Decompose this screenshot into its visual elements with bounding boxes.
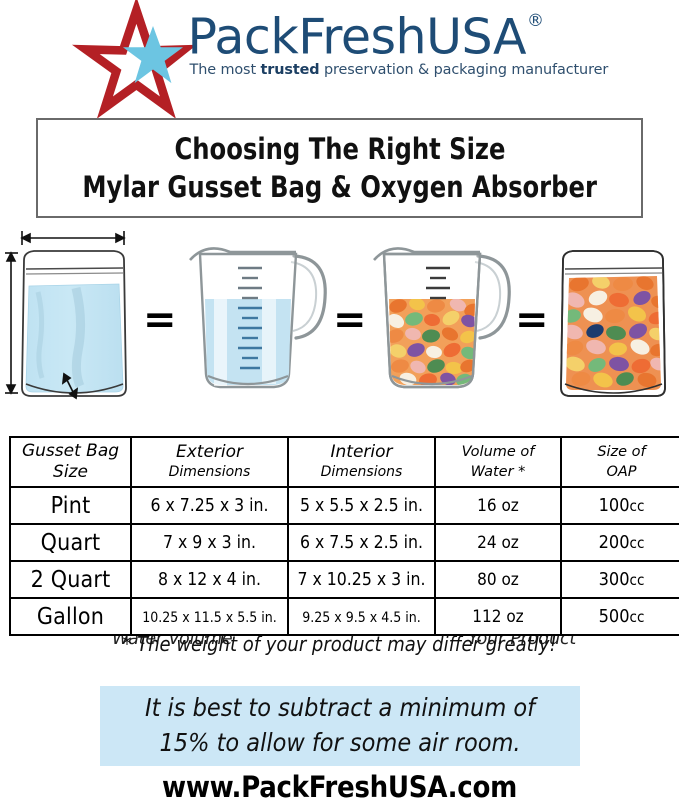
cell-oap: 200cc bbox=[561, 524, 679, 561]
cell-size: 2 Quart bbox=[10, 561, 131, 598]
cell-size: Quart bbox=[10, 524, 131, 561]
highlight-callout: It is best to subtract a minimum of 15% … bbox=[100, 686, 580, 766]
cell-oap-number: 200 bbox=[599, 532, 630, 553]
cell-size-text: Pint bbox=[51, 493, 91, 519]
cell-interior: 9.25 x 9.5 x 4.5 in. bbox=[288, 598, 435, 635]
title-line-2: Mylar Gusset Bag & Oxygen Absorber bbox=[82, 168, 597, 206]
product-filled-bag-illustration bbox=[543, 226, 679, 404]
cell-size-text: Quart bbox=[41, 530, 101, 556]
cell-oap-text: 200cc bbox=[599, 532, 645, 553]
measuring-cup-water-illustration bbox=[178, 226, 338, 404]
cell-interior-text: 9.25 x 9.5 x 4.5 in. bbox=[302, 610, 420, 626]
table-row: 2 Quart 8 x 12 x 4 in. 7 x 10.25 x 3 in.… bbox=[10, 561, 679, 598]
cell-water: 16 oz bbox=[435, 487, 561, 524]
cell-exterior: 6 x 7.25 x 3 in. bbox=[131, 487, 288, 524]
width-dimension-arrow bbox=[22, 231, 124, 245]
brand-name: PackFreshUSA® bbox=[188, 2, 608, 62]
title-box: Choosing The Right Size Mylar Gusset Bag… bbox=[36, 118, 643, 218]
cell-oap-unit: cc bbox=[630, 608, 645, 626]
cell-water: 112 oz bbox=[435, 598, 561, 635]
header-line-1: Interior bbox=[289, 442, 434, 463]
cell-exterior-text: 6 x 7.25 x 3 in. bbox=[150, 496, 268, 516]
cell-exterior-text: 7 x 9 x 3 in. bbox=[163, 533, 256, 553]
website-url[interactable]: www.PackFreshUSA.com bbox=[0, 770, 679, 804]
jelly-beans-fill bbox=[561, 273, 668, 394]
table-row: Gallon 10.25 x 11.5 x 5.5 in. 9.25 x 9.5… bbox=[10, 598, 679, 635]
size-chart-table: Gusset Bag Size Exterior Dimensions Inte… bbox=[9, 436, 679, 636]
cell-exterior: 8 x 12 x 4 in. bbox=[131, 561, 288, 598]
title-line-1: Choosing The Right Size bbox=[174, 130, 505, 168]
header-line-2: Dimensions bbox=[132, 463, 287, 482]
header-line-1: Volume of bbox=[436, 442, 560, 462]
equals-sign-1: = bbox=[143, 300, 177, 340]
highlight-line-1: It is best to subtract a minimum of bbox=[100, 690, 580, 725]
cell-oap-number: 500 bbox=[599, 606, 630, 627]
cell-oap-unit: cc bbox=[630, 534, 645, 552]
table-row: Quart 7 x 9 x 3 in. 6 x 7.5 x 2.5 in. 24… bbox=[10, 524, 679, 561]
header-exterior-dimensions: Exterior Dimensions bbox=[131, 437, 288, 487]
illustration-row: = bbox=[0, 226, 679, 404]
cell-oap: 500cc bbox=[561, 598, 679, 635]
star-logo-mark bbox=[80, 6, 200, 106]
infographic-page: PackFreshUSA® The most trusted preservat… bbox=[0, 0, 679, 812]
registered-mark: ® bbox=[527, 11, 544, 31]
cell-oap-number: 300 bbox=[599, 569, 630, 590]
tagline-pre: The most bbox=[190, 62, 261, 78]
table-header: Gusset Bag Size Exterior Dimensions Inte… bbox=[10, 437, 679, 487]
cell-size-text: Gallon bbox=[37, 604, 104, 630]
cell-exterior: 7 x 9 x 3 in. bbox=[131, 524, 288, 561]
cell-oap: 300cc bbox=[561, 561, 679, 598]
bag-outline bbox=[22, 251, 126, 396]
cell-interior: 6 x 7.5 x 2.5 in. bbox=[288, 524, 435, 561]
footnote-weight-disclaimer: * The weight of your product may differ … bbox=[0, 632, 679, 656]
header-line-2: OAP bbox=[562, 462, 679, 482]
header-line-1: Exterior bbox=[132, 442, 287, 463]
cell-water: 24 oz bbox=[435, 524, 561, 561]
cell-water-text: 24 oz bbox=[477, 533, 519, 553]
header-size-of-oap: Size of OAP bbox=[561, 437, 679, 487]
header-line-1: Gusset Bag bbox=[11, 441, 130, 462]
cell-interior-text: 5 x 5.5 x 2.5 in. bbox=[300, 496, 423, 516]
tagline-bold: trusted bbox=[260, 62, 319, 78]
table-body: Pint 6 x 7.25 x 3 in. 5 x 5.5 x 2.5 in. … bbox=[10, 487, 679, 635]
table-header-row: Gusset Bag Size Exterior Dimensions Inte… bbox=[10, 437, 679, 487]
header-volume-of-water: Volume of Water * bbox=[435, 437, 561, 487]
cell-size-text: 2 Quart bbox=[31, 567, 111, 593]
cell-exterior-text: 10.25 x 11.5 x 5.5 in. bbox=[142, 610, 276, 626]
tagline-post: preservation & packaging manufacturer bbox=[320, 62, 609, 78]
header-line-2: Dimensions bbox=[289, 463, 434, 482]
cell-interior-text: 6 x 7.5 x 2.5 in. bbox=[300, 533, 423, 553]
size-chart-table-wrapper: Gusset Bag Size Exterior Dimensions Inte… bbox=[9, 436, 671, 636]
cell-oap: 100cc bbox=[561, 487, 679, 524]
cell-oap-unit: cc bbox=[630, 571, 645, 589]
cell-oap-number: 100 bbox=[599, 495, 630, 516]
cell-size: Gallon bbox=[10, 598, 131, 635]
cell-exterior-text: 8 x 12 x 4 in. bbox=[158, 570, 261, 590]
header-gusset-bag-size: Gusset Bag Size bbox=[10, 437, 131, 487]
cell-oap-text: 500cc bbox=[599, 606, 645, 627]
cell-interior-text: 7 x 10.25 x 3 in. bbox=[297, 570, 425, 590]
brand-name-text: PackFreshUSA bbox=[188, 8, 527, 65]
header-interior-dimensions: Interior Dimensions bbox=[288, 437, 435, 487]
brand-tagline: The most trusted preservation & packagin… bbox=[190, 62, 610, 78]
cell-oap-unit: cc bbox=[630, 497, 645, 515]
water-filled-bag-illustration bbox=[4, 226, 144, 404]
cell-water: 80 oz bbox=[435, 561, 561, 598]
measuring-cup-product-illustration bbox=[362, 226, 522, 404]
brand-logo: PackFreshUSA® The most trusted preservat… bbox=[0, 2, 679, 110]
cell-size: Pint bbox=[10, 487, 131, 524]
height-dimension-arrow bbox=[5, 253, 18, 393]
cell-oap-text: 300cc bbox=[599, 569, 645, 590]
table-row: Pint 6 x 7.25 x 3 in. 5 x 5.5 x 2.5 in. … bbox=[10, 487, 679, 524]
blue-star-icon bbox=[122, 24, 184, 86]
header-line-2: Size bbox=[11, 462, 130, 483]
highlight-line-2: 15% to allow for some air room. bbox=[100, 725, 580, 760]
cell-water-text: 80 oz bbox=[477, 570, 519, 590]
header-line-1: Size of bbox=[562, 442, 679, 462]
cell-exterior: 10.25 x 11.5 x 5.5 in. bbox=[131, 598, 288, 635]
cell-water-text: 112 oz bbox=[472, 607, 523, 627]
cell-interior: 7 x 10.25 x 3 in. bbox=[288, 561, 435, 598]
cell-water-text: 16 oz bbox=[477, 496, 519, 516]
cell-oap-text: 100cc bbox=[599, 495, 645, 516]
header-line-2: Water * bbox=[436, 462, 560, 482]
cell-interior: 5 x 5.5 x 2.5 in. bbox=[288, 487, 435, 524]
